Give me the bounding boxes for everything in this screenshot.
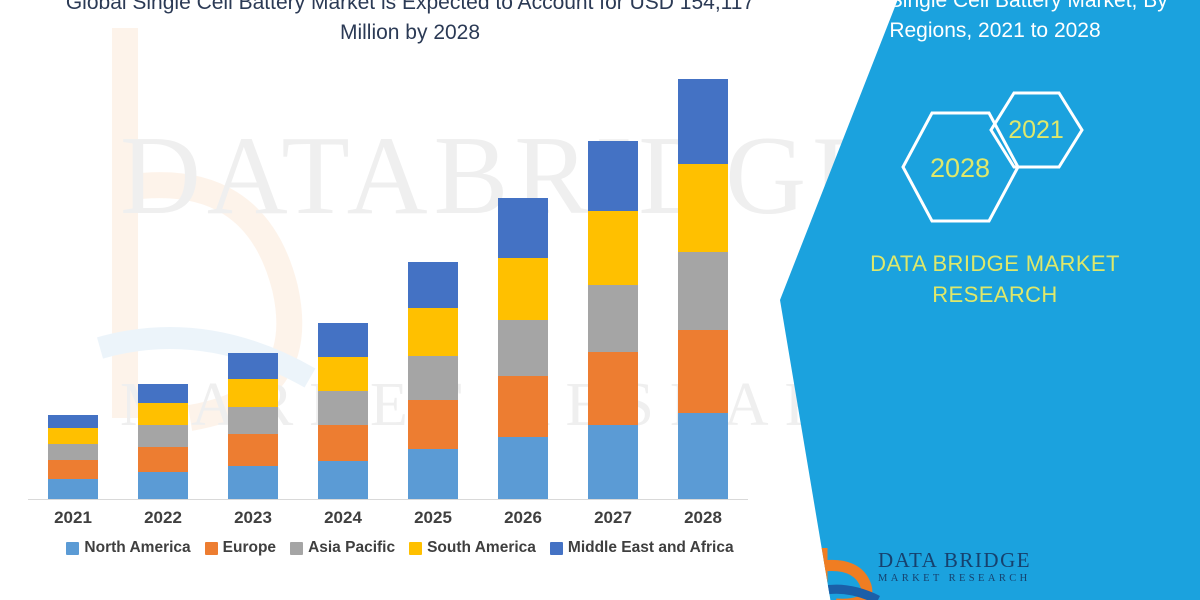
brand-name: DATA BRIDGE MARKET RESEARCH (810, 248, 1180, 310)
legend-swatch-icon (205, 542, 218, 555)
bar-segment[interactable] (408, 356, 458, 401)
legend-label: Europe (223, 539, 276, 557)
bar-segment[interactable] (318, 323, 368, 357)
bar-segment[interactable] (588, 425, 638, 500)
bar-segment[interactable] (678, 330, 728, 413)
bar-group-2023[interactable] (209, 63, 297, 500)
stacked-bar[interactable] (678, 79, 728, 500)
bar-group-2026[interactable] (479, 63, 567, 500)
bar-segment[interactable] (228, 434, 278, 466)
bar-segment[interactable] (138, 403, 188, 425)
bar-segment[interactable] (228, 466, 278, 500)
x-axis-line (28, 499, 748, 500)
bar-group-2025[interactable] (389, 63, 477, 500)
stacked-bar[interactable] (588, 141, 638, 500)
hexagon-2028-label: 2028 (930, 153, 990, 183)
bar-segment[interactable] (408, 262, 458, 308)
bar-segment[interactable] (48, 444, 98, 460)
bar-segment[interactable] (678, 413, 728, 500)
bar-segment[interactable] (138, 472, 188, 500)
dbmr-logo: DATA BRIDGE MARKET RESEARCH (810, 540, 1070, 600)
bar-segment[interactable] (138, 384, 188, 403)
stacked-bar[interactable] (498, 198, 548, 500)
bar-segment[interactable] (678, 252, 728, 330)
stacked-bar[interactable] (138, 384, 188, 501)
chart-panel: DATABRIDGE MARKET RESEARCH Global Single… (0, 0, 860, 600)
legend-swatch-icon (409, 542, 422, 555)
bar-segment[interactable] (318, 425, 368, 461)
legend-label: North America (84, 539, 190, 557)
x-axis-tick-2022: 2022 (119, 508, 207, 528)
x-axis-tick-2026: 2026 (479, 508, 567, 528)
bar-segment[interactable] (498, 198, 548, 259)
bar-segment[interactable] (498, 258, 548, 320)
x-axis-tick-2025: 2025 (389, 508, 477, 528)
brand-name-line-2: RESEARCH (810, 279, 1180, 310)
bar-group-2027[interactable] (569, 63, 657, 500)
bar-segment[interactable] (228, 353, 278, 378)
stacked-bar[interactable] (318, 323, 368, 500)
bar-group-2022[interactable] (119, 63, 207, 500)
bar-segment[interactable] (498, 320, 548, 376)
x-axis-tick-2027: 2027 (569, 508, 657, 528)
bar-segment[interactable] (48, 415, 98, 428)
x-axis-tick-2028: 2028 (659, 508, 747, 528)
bar-segment[interactable] (138, 447, 188, 472)
stacked-bar[interactable] (228, 353, 278, 500)
bar-segment[interactable] (678, 79, 728, 164)
bar-segment[interactable] (48, 479, 98, 500)
legend-swatch-icon (550, 542, 563, 555)
bar-segment[interactable] (318, 391, 368, 425)
x-axis-labels: 20212022202320242025202620272028 (28, 508, 748, 528)
dbmr-logo-subtitle: MARKET RESEARCH (878, 573, 1031, 584)
bar-segment[interactable] (498, 376, 548, 437)
bar-segment[interactable] (588, 211, 638, 285)
legend-item[interactable]: Europe (205, 539, 276, 557)
chart-title: Global Single Cell Battery Market is Exp… (60, 0, 760, 48)
bar-segment[interactable] (228, 379, 278, 407)
legend-item[interactable]: South America (409, 539, 536, 557)
legend-label: South America (427, 539, 536, 557)
legend-item[interactable]: North America (66, 539, 190, 557)
bars-container (28, 63, 748, 500)
bar-segment[interactable] (48, 460, 98, 479)
legend-swatch-icon (66, 542, 79, 555)
plot-area (28, 60, 748, 500)
x-axis-tick-2024: 2024 (299, 508, 387, 528)
legend-label: Middle East and Africa (568, 539, 734, 557)
x-axis-tick-2023: 2023 (209, 508, 297, 528)
legend-swatch-icon (290, 542, 303, 555)
dbmr-logo-wordmark: DATA BRIDGE (878, 548, 1031, 573)
bar-segment[interactable] (48, 428, 98, 444)
bar-segment[interactable] (588, 352, 638, 425)
bar-segment[interactable] (408, 449, 458, 500)
bar-segment[interactable] (318, 461, 368, 500)
bar-segment[interactable] (588, 285, 638, 352)
hexagon-badge-group: 2021 2028 (884, 85, 1114, 250)
chart-legend: North AmericaEuropeAsia PacificSouth Ame… (20, 539, 780, 557)
infographic-root: DATABRIDGE MARKET RESEARCH Global Single… (0, 0, 1200, 600)
bar-group-2021[interactable] (29, 63, 117, 500)
stacked-bar[interactable] (48, 415, 98, 500)
bar-segment[interactable] (678, 164, 728, 253)
bar-segment[interactable] (408, 400, 458, 449)
brand-name-line-1: DATA BRIDGE MARKET (810, 248, 1180, 279)
bar-group-2024[interactable] (299, 63, 387, 500)
legend-label: Asia Pacific (308, 539, 395, 557)
legend-item[interactable]: Middle East and Africa (550, 539, 734, 557)
bar-group-2028[interactable] (659, 63, 747, 500)
bar-segment[interactable] (228, 407, 278, 435)
bar-segment[interactable] (498, 437, 548, 500)
stacked-bar[interactable] (408, 262, 458, 500)
brand-panel-title: Global Single Cell Battery Market, By Re… (810, 0, 1180, 46)
hexagon-2021-label: 2021 (1008, 116, 1064, 144)
bar-segment[interactable] (318, 357, 368, 391)
bar-segment[interactable] (138, 425, 188, 447)
legend-item[interactable]: Asia Pacific (290, 539, 395, 557)
bar-segment[interactable] (588, 141, 638, 211)
hexagons-svg: 2021 2028 (884, 85, 1114, 250)
x-axis-tick-2021: 2021 (29, 508, 117, 528)
bar-segment[interactable] (408, 308, 458, 355)
